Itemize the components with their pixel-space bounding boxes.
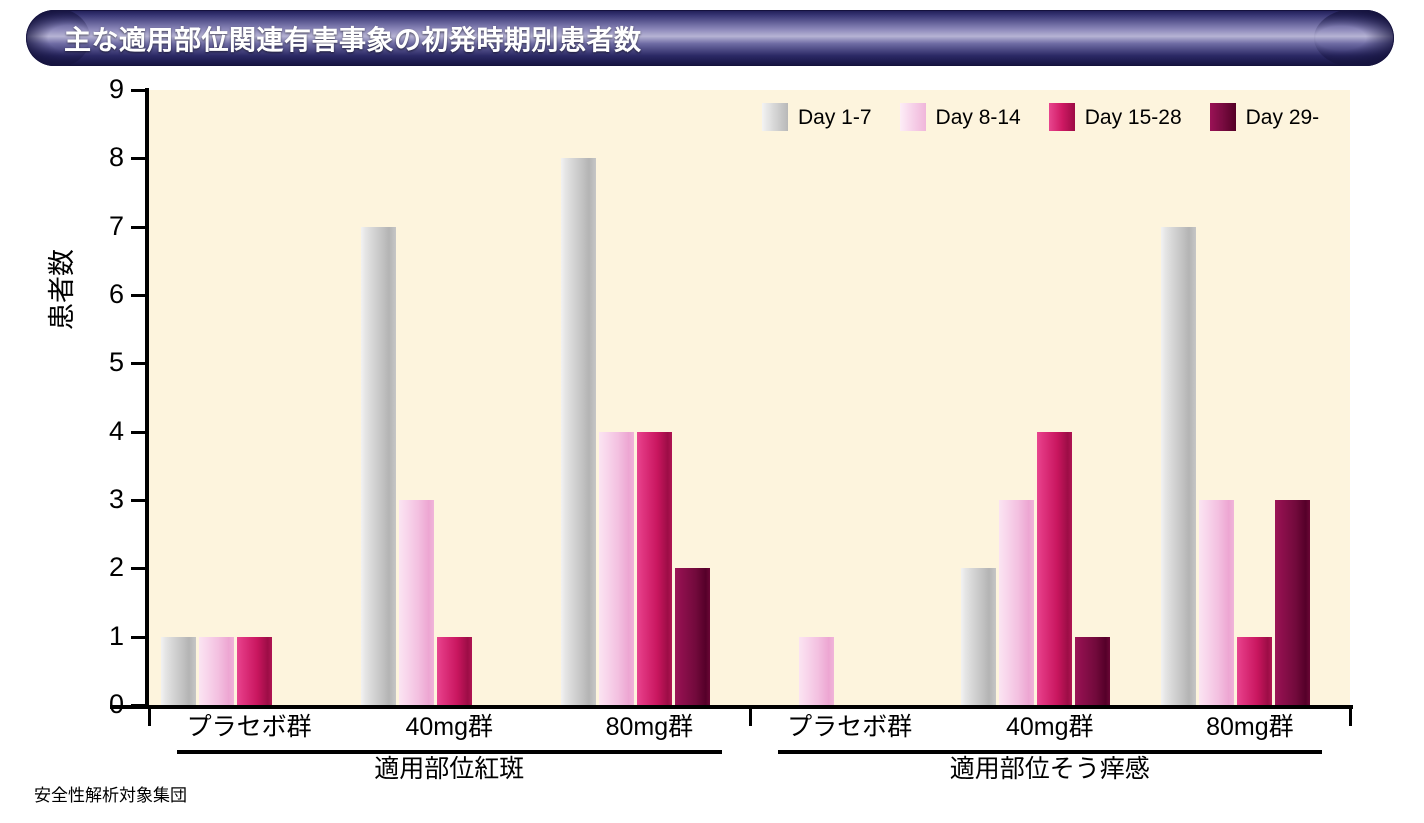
y-tick-label-wrap: 2: [88, 554, 124, 581]
y-tick-mark: [131, 294, 146, 297]
bar: [561, 158, 596, 705]
x-category-label: 40mg群: [349, 712, 549, 742]
bar: [1161, 227, 1196, 705]
y-tick-mark: [131, 157, 146, 160]
bar: [361, 227, 396, 705]
x-category-label: プラセボ群: [750, 712, 950, 742]
y-tick-label-wrap: 6: [88, 281, 124, 308]
legend-entry: Day 8-14: [900, 103, 1021, 131]
legend-label: Day 8-14: [936, 107, 1021, 128]
y-axis-line: [145, 88, 149, 707]
y-tick-label-wrap: 7: [88, 213, 124, 240]
dark-maroon-gradient-swatch: [1210, 103, 1236, 131]
y-tick-mark: [131, 89, 146, 92]
y-tick-mark: [131, 636, 146, 639]
y-tick-label: 6: [94, 281, 124, 308]
y-tick-label-wrap: 3: [88, 486, 124, 513]
y-tick-label-wrap: 4: [88, 418, 124, 445]
light-pink-gradient-swatch: [900, 103, 926, 131]
legend-label: Day 29-: [1246, 107, 1320, 128]
legend-entry: Day 15-28: [1049, 103, 1182, 131]
x-axis-line: [110, 705, 1353, 709]
y-tick-mark: [131, 431, 146, 434]
bar: [437, 637, 472, 705]
y-tick-label: 1: [94, 623, 124, 650]
y-tick-label: 4: [94, 418, 124, 445]
y-tick-mark: [131, 567, 146, 570]
legend-entry: Day 1-7: [762, 103, 872, 131]
bar: [237, 637, 272, 705]
bar: [961, 568, 996, 705]
y-tick-label: 9: [94, 76, 124, 103]
bar: [161, 637, 196, 705]
bar: [1037, 432, 1072, 705]
x-category-label: 80mg群: [1150, 712, 1350, 742]
bar: [599, 432, 634, 705]
bar: [999, 500, 1034, 705]
legend-label: Day 15-28: [1085, 107, 1182, 128]
chart-legend: Day 1-7Day 8-14Day 15-28Day 29-: [762, 103, 1347, 131]
y-axis-title: 患者数: [40, 249, 79, 330]
y-tick-label-wrap: 1: [88, 623, 124, 650]
y-tick-mark: [131, 499, 146, 502]
footnote-text: 安全性解析対象集団: [34, 786, 187, 806]
bar: [637, 432, 672, 705]
y-tick-mark: [131, 226, 146, 229]
bar: [1075, 637, 1110, 705]
y-tick-label-wrap: 5: [88, 349, 124, 376]
y-tick-mark: [131, 362, 146, 365]
y-tick-label: 8: [94, 144, 124, 171]
magenta-gradient-swatch: [1049, 103, 1075, 131]
bar: [799, 637, 834, 705]
bar: [1199, 500, 1234, 705]
y-tick-label: 0: [94, 691, 124, 718]
bar: [1275, 500, 1310, 705]
group-label: 適用部位そう痒感: [750, 754, 1351, 784]
bar: [399, 500, 434, 705]
bar: [675, 568, 710, 705]
y-tick-label-wrap: 8: [88, 144, 124, 171]
y-tick-label: 5: [94, 349, 124, 376]
bar-chart: 患者数 0123456789 Day 1-7Day 8-14Day 15-28D…: [0, 0, 1424, 823]
y-tick-label: 2: [94, 554, 124, 581]
y-tick-label-wrap: 9: [88, 76, 124, 103]
x-category-label: 40mg群: [950, 712, 1150, 742]
legend-entry: Day 29-: [1210, 103, 1320, 131]
legend-label: Day 1-7: [798, 107, 872, 128]
x-category-label: プラセボ群: [149, 712, 349, 742]
y-tick-mark: [131, 704, 146, 707]
y-tick-label: 7: [94, 213, 124, 240]
bar: [1237, 637, 1272, 705]
y-tick-label-wrap: 0: [88, 691, 124, 718]
gray-gradient-swatch: [762, 103, 788, 131]
group-label: 適用部位紅斑: [149, 754, 750, 784]
y-tick-label: 3: [94, 486, 124, 513]
page-title: 主な適用部位関連有害事象の初発時期別患者数: [64, 19, 642, 58]
bar: [199, 637, 234, 705]
x-category-label: 80mg群: [549, 712, 749, 742]
